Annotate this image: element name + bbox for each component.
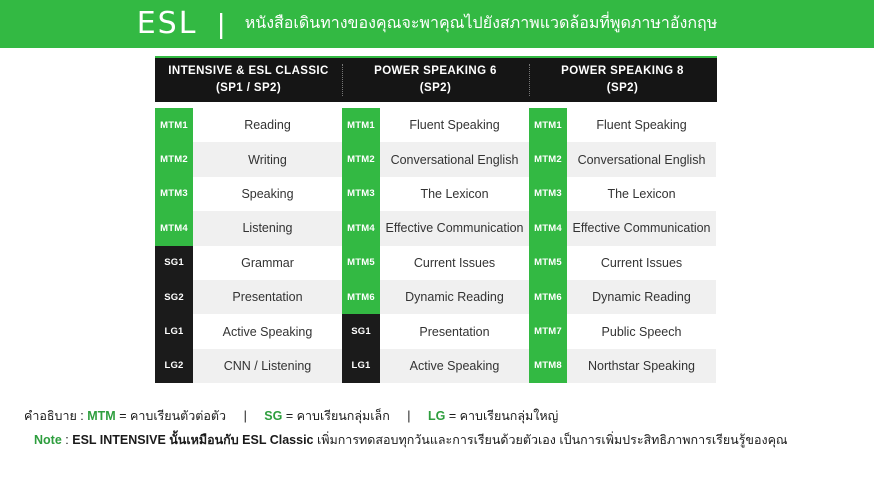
session-code-badge: SG1 — [342, 314, 380, 348]
table-row: MTM3The Lexicon — [529, 177, 716, 211]
subject-label: Reading — [193, 108, 342, 142]
column-title: INTENSIVE & ESL CLASSIC — [168, 63, 328, 80]
column-header-power-speaking-8: POWER SPEAKING 8 (SP2) — [529, 58, 716, 102]
subject-label: Current Issues — [380, 246, 529, 280]
session-code-badge: MTM2 — [342, 142, 380, 176]
subject-label: Listening — [193, 211, 342, 245]
legend-key-mtm: MTM — [87, 409, 115, 423]
session-code-badge: MTM4 — [155, 211, 193, 245]
table-row: MTM8Northstar Speaking — [529, 349, 716, 383]
table-row: SG1Presentation — [342, 314, 529, 348]
session-code-badge: MTM3 — [155, 177, 193, 211]
subject-label: Conversational English — [567, 142, 716, 176]
session-code-badge: MTM3 — [342, 177, 380, 211]
note-tail-text: เพิ่มการทดสอบทุกวันและการเรียนด้วยตัวเอง… — [317, 433, 788, 447]
table-row: MTM4Effective Communication — [529, 211, 716, 245]
banner-tagline: หนังสือเดินทางของคุณจะพาคุณไปยังสภาพแวดล… — [245, 16, 718, 32]
legend-value-mtm: คาบเรียนตัวต่อตัว — [130, 409, 226, 423]
session-code-badge: MTM5 — [529, 246, 567, 280]
session-code-badge: MTM3 — [529, 177, 567, 211]
subject-label: Northstar Speaking — [567, 349, 716, 383]
session-code-badge: MTM4 — [529, 211, 567, 245]
legend-value-lg: คาบเรียนกลุ่มใหญ่ — [460, 409, 559, 423]
table-row: MTM7Public Speech — [529, 314, 716, 348]
subject-label: Dynamic Reading — [567, 280, 716, 314]
subject-label: The Lexicon — [567, 177, 716, 211]
legend-label: คำอธิบาย — [24, 409, 77, 423]
subject-label: Effective Communication — [567, 211, 716, 245]
subject-label: The Lexicon — [380, 177, 529, 211]
subject-label: Presentation — [193, 280, 342, 314]
column-subtitle: (SP2) — [607, 80, 638, 97]
table-row: LG1Active Speaking — [342, 349, 529, 383]
subject-label: Speaking — [193, 177, 342, 211]
table-row: MTM5Current Issues — [529, 246, 716, 280]
banner-divider: | — [211, 10, 230, 38]
table-row: LG1Active Speaking — [155, 314, 342, 348]
legend-separator: | — [393, 409, 424, 423]
subject-label: Fluent Speaking — [567, 108, 716, 142]
footer-notes: คำอธิบาย : MTM = คาบเรียนตัวต่อตัว | SG … — [0, 404, 874, 452]
note-row: Note : ESL INTENSIVE นั้นเหมือนกับ ESL C… — [0, 428, 874, 452]
session-code-badge: MTM4 — [342, 211, 380, 245]
legend-row: คำอธิบาย : MTM = คาบเรียนตัวต่อตัว | SG … — [0, 404, 874, 428]
table-row: MTM6Dynamic Reading — [342, 280, 529, 314]
session-code-badge: MTM6 — [342, 280, 380, 314]
subject-label: Grammar — [193, 246, 342, 280]
banner-content: ESL | หนังสือเดินทางของคุณจะพาคุณไปยังสภ… — [137, 9, 718, 39]
table-row: MTM5Current Issues — [342, 246, 529, 280]
legend-equals-lg: = — [449, 409, 456, 423]
course-column-power-speaking-8: MTM1Fluent Speaking MTM2Conversational E… — [529, 108, 716, 383]
subject-label: Active Speaking — [193, 314, 342, 348]
note-mid-text: นั้นเหมือนกับ — [169, 433, 238, 447]
subject-label: Public Speech — [567, 314, 716, 348]
session-code-badge: MTM5 — [342, 246, 380, 280]
note-bold-esl-intensive: ESL INTENSIVE — [72, 433, 166, 447]
course-table: INTENSIVE & ESL CLASSIC (SP1 / SP2) POWE… — [155, 56, 717, 383]
course-column-power-speaking-6: MTM1Fluent Speaking MTM2Conversational E… — [342, 108, 529, 383]
session-code-badge: LG1 — [342, 349, 380, 383]
note-colon: : — [65, 433, 68, 447]
subject-label: Effective Communication — [380, 211, 529, 245]
subject-label: Fluent Speaking — [380, 108, 529, 142]
table-row: MTM3Speaking — [155, 177, 342, 211]
legend-key-sg: SG — [264, 409, 282, 423]
legend-equals-mtm: = — [119, 409, 126, 423]
table-row: MTM1Reading — [155, 108, 342, 142]
table-row: MTM4Effective Communication — [342, 211, 529, 245]
table-row: MTM2Conversational English — [529, 142, 716, 176]
session-code-badge: LG2 — [155, 349, 193, 383]
table-row: MTM4Listening — [155, 211, 342, 245]
table-row: MTM1Fluent Speaking — [342, 108, 529, 142]
legend-separator: | — [230, 409, 261, 423]
column-header-power-speaking-6: POWER SPEAKING 6 (SP2) — [342, 58, 529, 102]
subject-label: CNN / Listening — [193, 349, 342, 383]
session-code-badge: SG2 — [155, 280, 193, 314]
table-row: SG2Presentation — [155, 280, 342, 314]
subject-label: Dynamic Reading — [380, 280, 529, 314]
session-code-badge: MTM1 — [529, 108, 567, 142]
subject-label: Active Speaking — [380, 349, 529, 383]
subject-label: Writing — [193, 142, 342, 176]
session-code-badge: MTM8 — [529, 349, 567, 383]
column-title: POWER SPEAKING 8 — [561, 63, 684, 80]
table-row: MTM1Fluent Speaking — [529, 108, 716, 142]
table-row: LG2CNN / Listening — [155, 349, 342, 383]
note-bold-esl-classic: ESL Classic — [242, 433, 313, 447]
session-code-badge: MTM2 — [529, 142, 567, 176]
table-row: MTM6Dynamic Reading — [529, 280, 716, 314]
session-code-badge: MTM1 — [342, 108, 380, 142]
column-subtitle: (SP1 / SP2) — [216, 80, 281, 97]
table-body: MTM1Reading MTM2Writing MTM3Speaking MTM… — [155, 108, 717, 383]
subject-label: Presentation — [380, 314, 529, 348]
page-banner: ESL | หนังสือเดินทางของคุณจะพาคุณไปยังสภ… — [0, 0, 874, 48]
legend-key-lg: LG — [428, 409, 445, 423]
esl-logo: ESL — [137, 9, 198, 39]
column-title: POWER SPEAKING 6 — [374, 63, 497, 80]
table-row: SG1Grammar — [155, 246, 342, 280]
session-code-badge: LG1 — [155, 314, 193, 348]
session-code-badge: MTM7 — [529, 314, 567, 348]
table-row: MTM3The Lexicon — [342, 177, 529, 211]
table-row: MTM2Writing — [155, 142, 342, 176]
session-code-badge: MTM6 — [529, 280, 567, 314]
column-header-intensive-esl-classic: INTENSIVE & ESL CLASSIC (SP1 / SP2) — [155, 58, 342, 102]
note-label: Note — [34, 433, 62, 447]
table-row: MTM2Conversational English — [342, 142, 529, 176]
legend-colon: : — [80, 409, 83, 423]
course-column-intensive-esl-classic: MTM1Reading MTM2Writing MTM3Speaking MTM… — [155, 108, 342, 383]
subject-label: Conversational English — [380, 142, 529, 176]
table-header-row: INTENSIVE & ESL CLASSIC (SP1 / SP2) POWE… — [155, 56, 717, 102]
session-code-badge: MTM1 — [155, 108, 193, 142]
legend-equals-sg: = — [286, 409, 293, 423]
legend-value-sg: คาบเรียนกลุ่มเล็ก — [297, 409, 390, 423]
session-code-badge: MTM2 — [155, 142, 193, 176]
column-subtitle: (SP2) — [420, 80, 451, 97]
session-code-badge: SG1 — [155, 246, 193, 280]
subject-label: Current Issues — [567, 246, 716, 280]
